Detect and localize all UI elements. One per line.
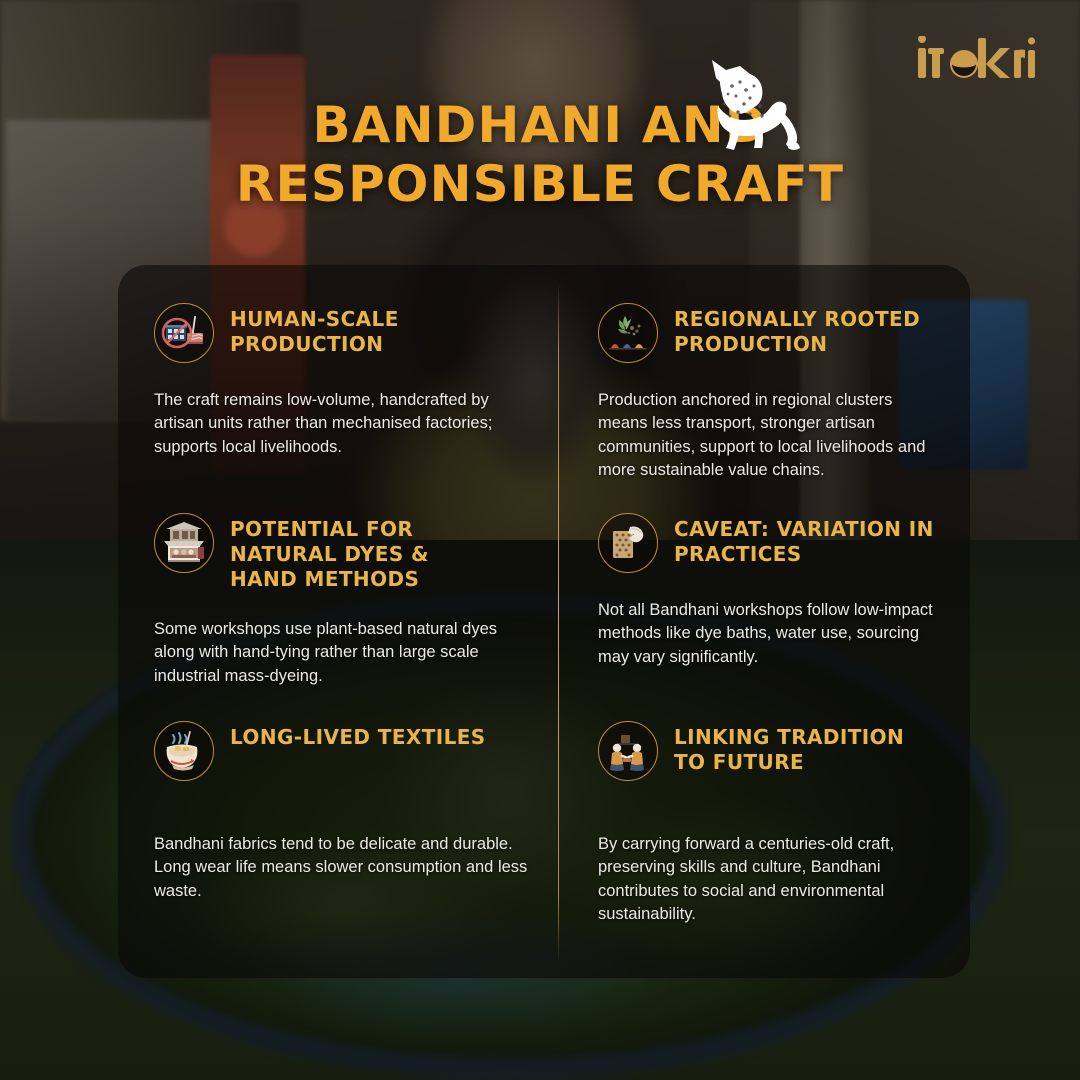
title-block: BANDHANI AND RESPONSIBLE CRAFT [0, 96, 1080, 214]
item-header: LONG-LIVED TEXTILES [154, 719, 528, 781]
item-potential-natural-dyes: POTENTIAL FOR NATURAL DYES & HAND METHOD… [118, 475, 558, 683]
item-title: CAVEAT: VARIATION IN PRACTICES [674, 511, 939, 567]
item-body: Bandhani fabrics tend to be delicate and… [154, 833, 528, 903]
white-cat-illustration-icon [688, 54, 808, 164]
item-body: Production anchored in regional clusters… [598, 389, 942, 483]
item-header: CAVEAT: VARIATION IN PRACTICES [598, 511, 942, 573]
itokri-logo-icon [916, 36, 1038, 82]
workshop-building-icon [154, 513, 214, 573]
item-body: Not all Bandhani workshops follow low-im… [598, 599, 942, 669]
item-caveat-variation: CAVEAT: VARIATION IN PRACTICES Not all B… [558, 475, 970, 683]
no-factory-icon [154, 303, 214, 363]
item-header: HUMAN-SCALE PRODUCTION [154, 301, 528, 363]
item-header: POTENTIAL FOR NATURAL DYES & HAND METHOD… [154, 511, 528, 592]
item-title: LINKING TRADITION TO FUTURE [674, 719, 939, 775]
item-header: REGIONALLY ROOTED PRODUCTION [598, 301, 942, 363]
item-long-lived-textiles: LONG-LIVED TEXTILES Bandhani fabrics ten… [118, 683, 558, 978]
item-regionally-rooted-production: REGIONALLY ROOTED PRODUCTION Production … [558, 265, 970, 475]
item-body: The craft remains low-volume, handcrafte… [154, 389, 528, 459]
item-title: POTENTIAL FOR NATURAL DYES & HAND METHOD… [230, 511, 500, 592]
item-title: HUMAN-SCALE PRODUCTION [230, 301, 500, 357]
item-human-scale-production: HUMAN-SCALE PRODUCTION The craft remains… [118, 265, 558, 475]
two-artisans-icon [598, 721, 658, 781]
item-body: By carrying forward a centuries-old craf… [598, 833, 942, 927]
items-grid: HUMAN-SCALE PRODUCTION The craft remains… [118, 265, 970, 978]
natural-dye-leaves-icon [598, 303, 658, 363]
page-title: BANDHANI AND RESPONSIBLE CRAFT [0, 96, 1080, 214]
hand-holding-fabric-icon [598, 513, 658, 573]
item-linking-tradition-future: LINKING TRADITION TO FUTURE By carrying … [558, 683, 970, 978]
brand-logo[interactable] [916, 36, 1038, 82]
item-title: REGIONALLY ROOTED PRODUCTION [674, 301, 939, 357]
item-body: Some workshops use plant-based natural d… [154, 618, 528, 688]
steaming-dye-pot-icon [154, 721, 214, 781]
item-header: LINKING TRADITION TO FUTURE [598, 719, 942, 781]
item-title: LONG-LIVED TEXTILES [230, 719, 486, 750]
content-panel: HUMAN-SCALE PRODUCTION The craft remains… [118, 265, 970, 978]
